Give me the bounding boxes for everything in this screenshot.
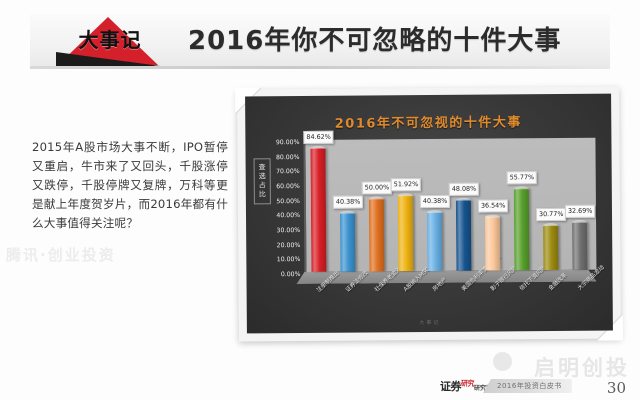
bar-value-label: 36.54% (478, 200, 508, 213)
black-triangle-icon (56, 52, 160, 66)
bar (543, 225, 558, 270)
slide-footer: 证券研究研究所 2016年投资白皮书 30 (0, 372, 640, 400)
bar-value-label: 50.00% (362, 181, 392, 194)
y-axis-tick-label: 50.00% (276, 199, 300, 205)
bar-value-label: 40.38% (333, 195, 363, 208)
bar (572, 222, 587, 270)
lead-paragraph: 2015年A股市场大事不断，IPO暂停又重启，牛市来了又回头，千股涨停又跌停，千… (32, 138, 228, 233)
bar (514, 188, 530, 270)
y-axis-tick-label: 70.00% (276, 169, 300, 175)
bar-value-label: 40.38% (420, 195, 450, 208)
bar-value-label: 30.77% (536, 208, 566, 221)
y-axis-tick-label: 0.00% (281, 272, 301, 278)
y-axis-tick-label: 10.00% (277, 257, 301, 263)
bar (340, 212, 355, 271)
y-axis-tick-label: 40.00% (276, 213, 300, 219)
bar-value-label: 51.92% (391, 178, 421, 191)
y-axis-tick-label: 60.00% (276, 184, 300, 190)
bar (310, 148, 326, 272)
bar-value-label: 32.69% (565, 205, 595, 218)
watermark-dot-icon (493, 352, 512, 371)
bar-value-label: 48.08% (449, 183, 479, 196)
dashiji-logo: 大事记 (52, 16, 164, 72)
bar (369, 198, 385, 271)
chart-footnote: 大事记 (247, 318, 613, 328)
footer-brand-main: 证券 (440, 380, 461, 393)
chart-canvas: 2016年不可忽视的十件大事 查选占比 90.00%80.00%70.00%60… (245, 94, 613, 334)
bar (485, 217, 500, 271)
bar-value-label: 55.77% (507, 171, 537, 184)
slide-root: 大事记 2016年你不可忽略的十件大事 2015年A股市场大事不断，IPO暂停又… (0, 0, 640, 400)
bar-value-label: 84.62% (303, 131, 333, 144)
bar (456, 200, 472, 271)
watermark-left: 腾讯·创业投资 (6, 244, 116, 265)
y-axis-tick-label: 90.00% (276, 140, 300, 146)
bar-series: 84.62%注册制推出40.38%证券法修改50.00%社保养老金入市51.92… (303, 138, 594, 272)
logo-label: 大事记 (61, 30, 159, 50)
chart-title: 2016年不可忽视的十件大事 (245, 111, 611, 133)
bar (398, 195, 414, 271)
y-axis-tick-label: 80.00% (276, 155, 300, 161)
y-axis-tick-label: 30.00% (277, 228, 301, 234)
slide-header: 大事记 2016年你不可忽略的十件大事 (0, 14, 640, 80)
bar (427, 212, 442, 271)
chart-panel: 2016年不可忽视的十件大事 查选占比 90.00%80.00%70.00%60… (237, 87, 621, 342)
footer-ribbon: 2016年投资白皮书 (483, 379, 572, 393)
y-axis-tick-label: 20.00% (277, 243, 301, 249)
y-axis-ticks: 90.00%80.00%70.00%60.00%50.00%40.00%30.0… (261, 136, 302, 276)
page-number: 30 (607, 379, 626, 397)
page-title: 2016年你不可忽略的十件大事 (188, 22, 561, 60)
footer-brand-sup: 研究 (461, 379, 474, 387)
